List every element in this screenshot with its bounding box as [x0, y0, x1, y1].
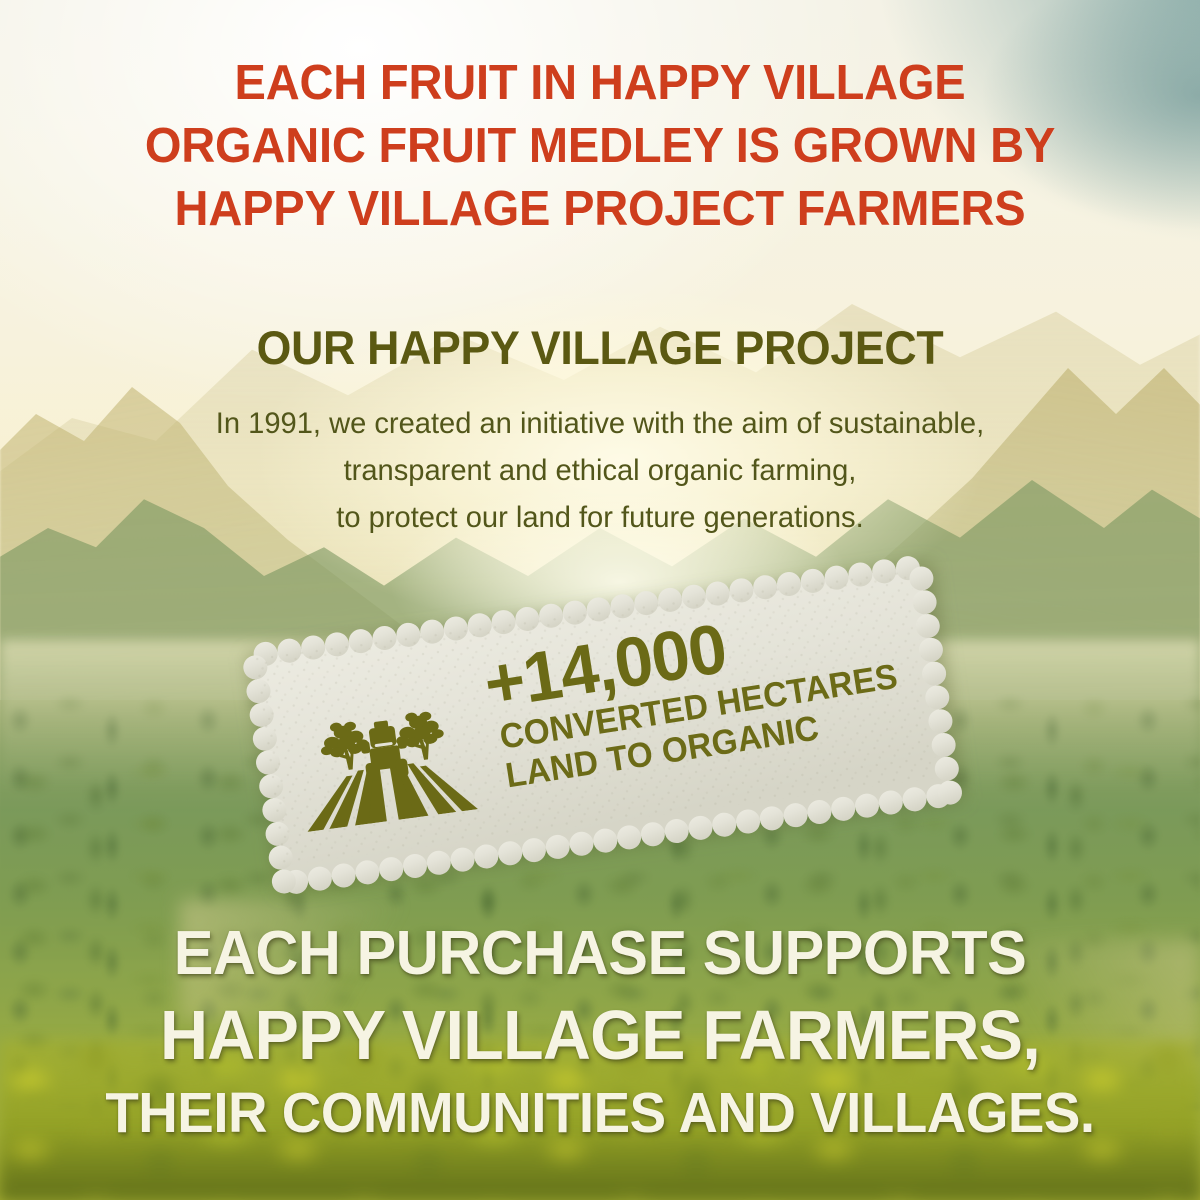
body-line-2: transparent and ethical organic farming,	[18, 447, 1182, 494]
stat-text-block: +14,000 CONVERTED HECTARES LAND TO ORGAN…	[475, 582, 947, 829]
call-to-action: EACH PURCHASE SUPPORTS HAPPY VILLAGE FAR…	[0, 915, 1200, 1149]
section-body: In 1991, we created an initiative with t…	[18, 400, 1182, 541]
body-line-3: to protect our land for future generatio…	[18, 494, 1182, 541]
farm-tractor-orchard-icon	[284, 691, 488, 833]
headline-line-3: HAPPY VILLAGE PROJECT FARMERS	[24, 178, 1176, 241]
main-headline: EACH FRUIT IN HAPPY VILLAGE ORGANIC FRUI…	[24, 52, 1176, 241]
headline-line-1: EACH FRUIT IN HAPPY VILLAGE	[24, 52, 1176, 115]
body-line-1: In 1991, we created an initiative with t…	[18, 400, 1182, 447]
promo-infographic: EACH FRUIT IN HAPPY VILLAGE ORGANIC FRUI…	[0, 0, 1200, 1200]
stat-stamp-badge: +14,000 CONVERTED HECTARES LAND TO ORGAN…	[238, 551, 966, 899]
cta-line-1: EACH PURCHASE SUPPORTS	[24, 915, 1176, 993]
section-title: OUR HAPPY VILLAGE PROJECT	[30, 320, 1170, 376]
cta-line-3: THEIR COMMUNITIES AND VILLAGES.	[24, 1077, 1176, 1149]
cta-line-2: HAPPY VILLAGE FARMERS,	[30, 993, 1170, 1077]
headline-line-2: ORGANIC FRUIT MEDLEY IS GROWN BY	[24, 115, 1176, 178]
